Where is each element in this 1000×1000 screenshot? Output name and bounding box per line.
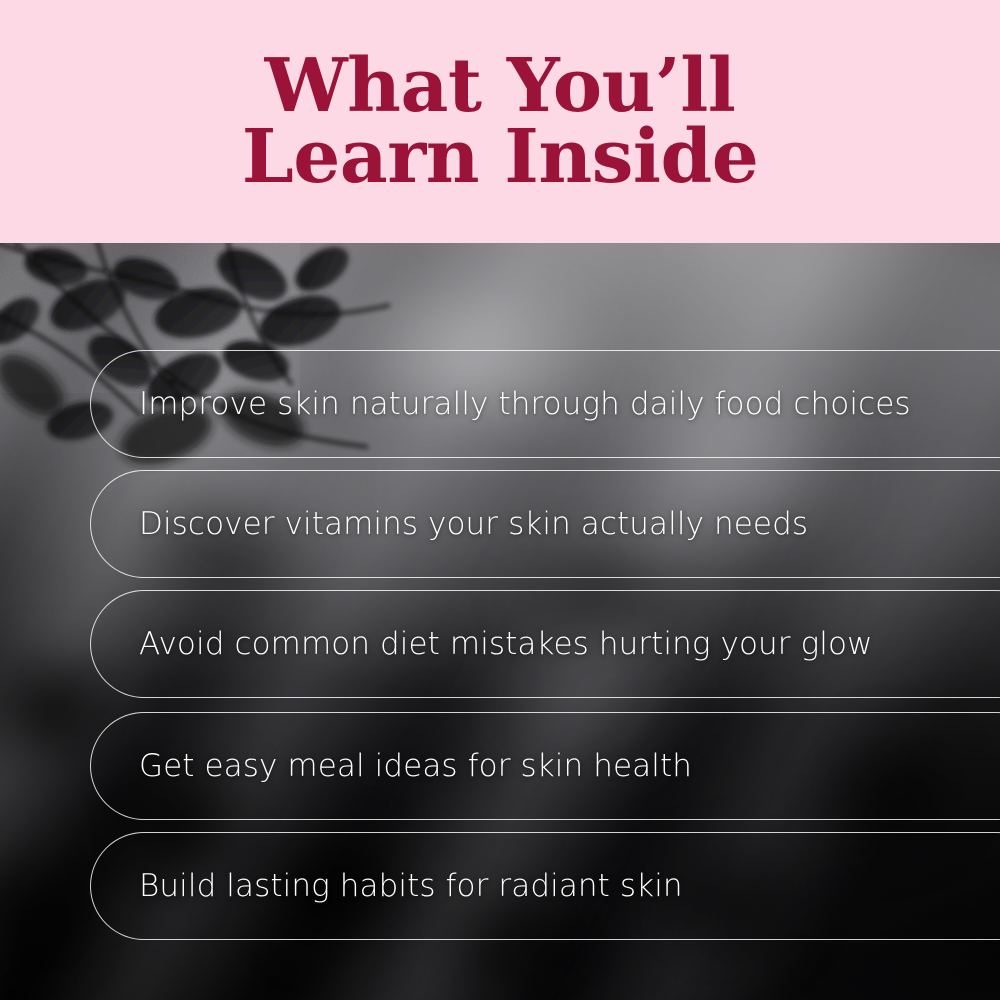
list-item-label: Discover vitamins your skin actually nee… xyxy=(139,506,808,542)
list-item-label: Get easy meal ideas for skin health xyxy=(139,748,692,784)
list-item[interactable]: Build lasting habits for radiant skin xyxy=(90,832,1000,940)
list-item-label: Avoid common diet mistakes hurting your … xyxy=(139,626,873,662)
list-item[interactable]: Get easy meal ideas for skin health xyxy=(90,712,1000,820)
benefits-list: Improve skin naturally through daily foo… xyxy=(0,243,1000,1000)
page-title-line-2: Learn Inside xyxy=(242,123,759,192)
list-item[interactable]: Discover vitamins your skin actually nee… xyxy=(90,470,1000,578)
list-item-label: Build lasting habits for radiant skin xyxy=(139,868,683,904)
header-band: What You’ll Learn Inside xyxy=(0,0,1000,243)
page-title-line-1: What You’ll xyxy=(242,52,759,121)
list-item-label: Improve skin naturally through daily foo… xyxy=(139,386,911,422)
list-item[interactable]: Improve skin naturally through daily foo… xyxy=(90,350,1000,458)
page-title: What You’ll Learn Inside xyxy=(242,52,759,192)
poster-canvas: What You’ll Learn Inside Improve skin na… xyxy=(0,0,1000,1000)
list-item[interactable]: Avoid common diet mistakes hurting your … xyxy=(90,590,1000,698)
